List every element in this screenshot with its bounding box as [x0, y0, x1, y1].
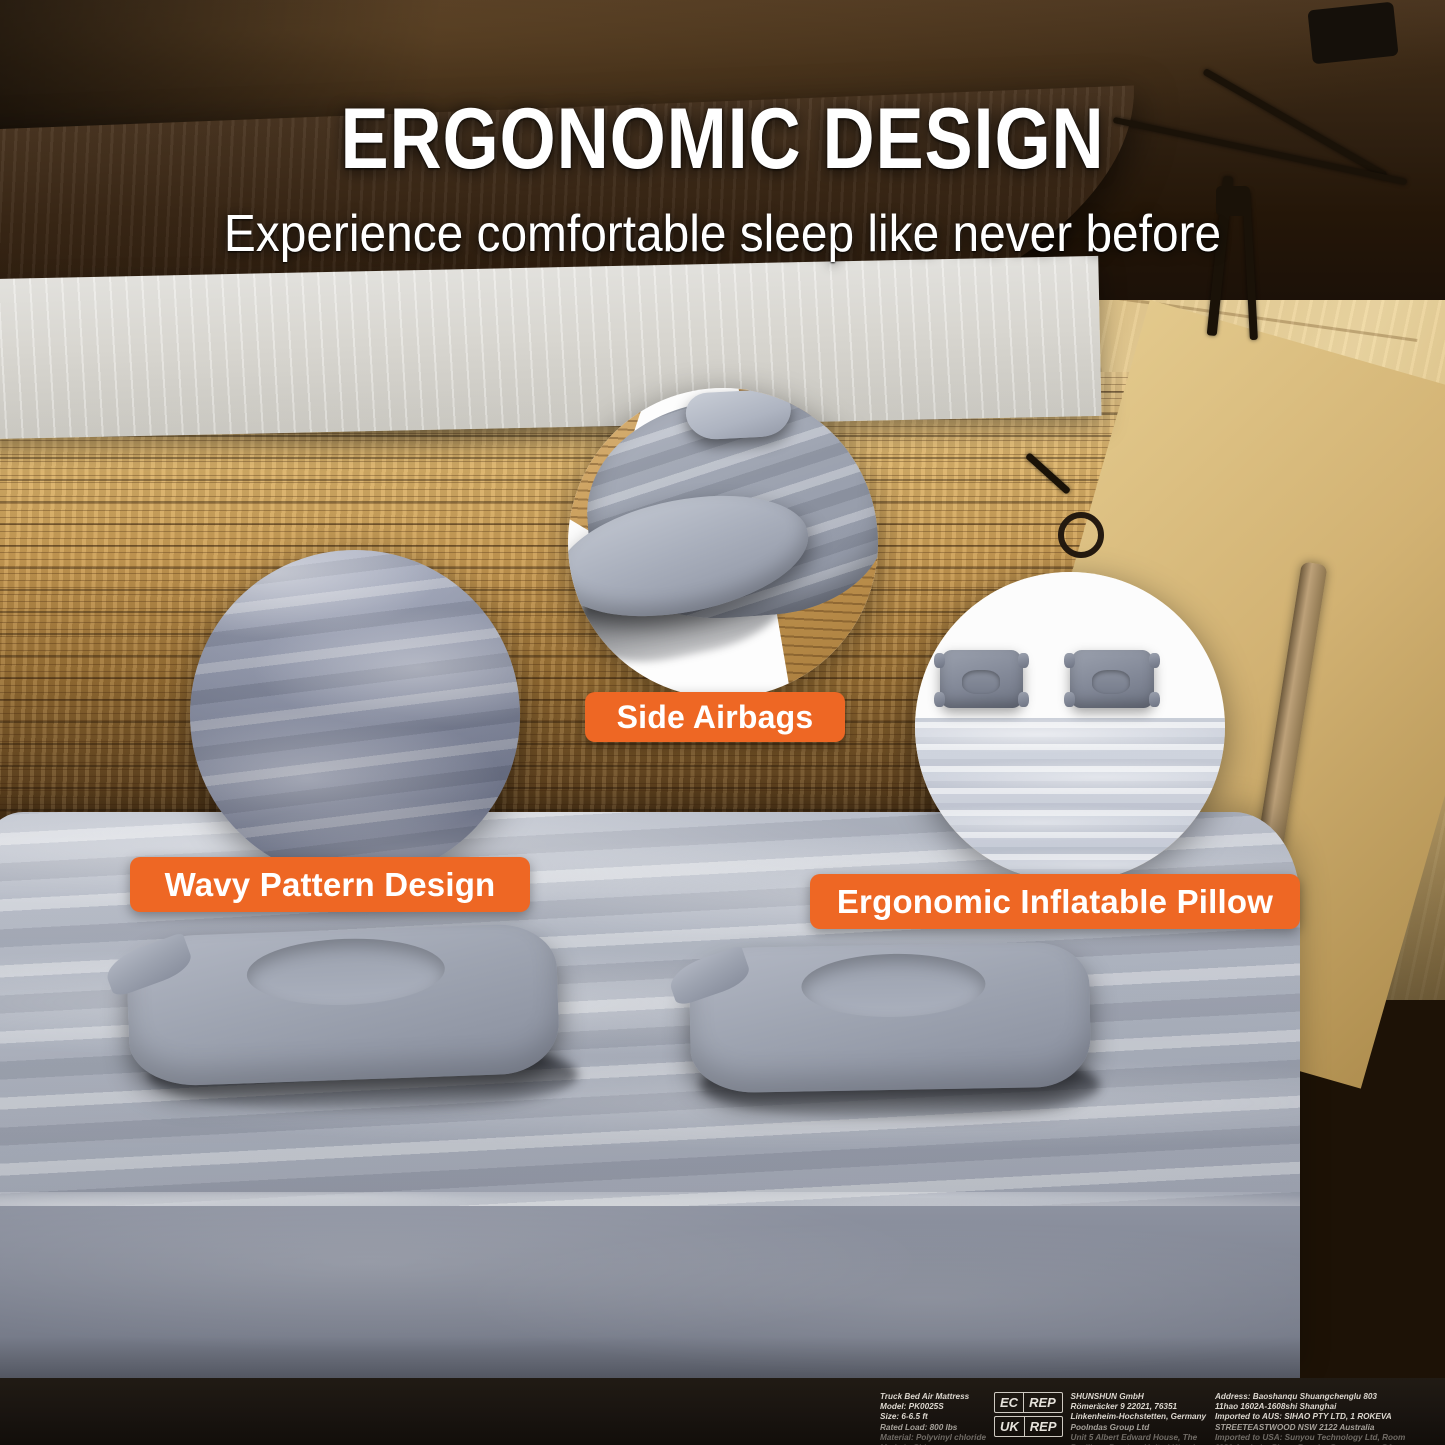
page-subtitle: Experience comfortable sleep like never … — [58, 208, 1387, 260]
pillow-head-dip — [801, 952, 986, 1019]
page-title: ERGONOMIC DESIGN — [116, 96, 1330, 182]
mfr-import-aus-1: Imported to AUS: SIHAO PTY LTD, 1 ROKEVA — [1215, 1412, 1405, 1422]
badge-ergonomic-inflatable-pillow: Ergonomic Inflatable Pillow — [810, 874, 1300, 929]
wavy-pattern-photo — [190, 550, 520, 880]
spec-material: Material: Polyvinyl chloride — [880, 1433, 986, 1443]
tent-vent-panel — [1307, 2, 1398, 65]
label-rep-marks-column: EC REP UK REP — [994, 1392, 1063, 1440]
callout-circle-wavy-pattern — [190, 550, 520, 880]
mattress-front-face — [0, 1206, 1300, 1392]
badge-label: Wavy Pattern Design — [165, 866, 496, 904]
mfr-address-line-1: Address: Baoshanqu Shuangchenglu 803 — [1215, 1392, 1405, 1402]
callout-circle-side-airbags — [568, 388, 878, 698]
tent-ring — [1058, 512, 1104, 558]
badge-label: Side Airbags — [617, 699, 814, 736]
badge-wavy-pattern-design: Wavy Pattern Design — [130, 857, 530, 912]
inflatable-pillow-right — [1070, 650, 1154, 709]
rep-mark-text: REP — [1024, 1417, 1062, 1436]
badge-label: Ergonomic Inflatable Pillow — [837, 883, 1273, 921]
side-airbags-photo — [568, 388, 878, 698]
ec-mark-text: EC — [995, 1393, 1023, 1412]
tent-inner-lining — [0, 256, 1102, 440]
ec-rep-street: Römeräcker 9 22021, 76351 — [1071, 1402, 1207, 1412]
uk-rep-street: Unit 5 Albert Edward House, The — [1071, 1433, 1207, 1443]
inflatable-pillow-left — [940, 650, 1024, 709]
bed-pillow-left — [126, 923, 561, 1088]
mfr-import-aus-2: STREETEASTWOOD NSW 2122 Australia — [1215, 1423, 1405, 1433]
ec-rep-city: Linkenheim-Hochstetten, Germany — [1071, 1412, 1207, 1422]
ergonomic-pillow-photo — [915, 572, 1225, 882]
label-manufacturer-address-column: Address: Baoshanqu Shuangchenglu 803 11h… — [1215, 1392, 1405, 1445]
product-marketing-image: ERGONOMIC DESIGN Experience comfortable … — [0, 0, 1445, 1445]
callout-circle-ergonomic-pillow — [915, 572, 1225, 882]
spec-size: Size: 6-6.5 ft — [880, 1412, 986, 1422]
ec-rep-company: SHUNSHUN GmbH — [1071, 1392, 1207, 1402]
spec-product-name: Truck Bed Air Mattress — [880, 1392, 986, 1402]
uk-mark-text: UK — [995, 1417, 1024, 1436]
label-spec-column: Truck Bed Air Mattress Model: PK0025S Si… — [880, 1392, 986, 1445]
mfr-address-line-2: 11hao 1602A-1608shi Shanghai — [1215, 1402, 1405, 1412]
rep-mark-text: REP — [1023, 1393, 1061, 1412]
spec-model: Model: PK0025S — [880, 1402, 986, 1412]
product-spec-label: Truck Bed Air Mattress Model: PK0025S Si… — [880, 1392, 1445, 1445]
pillow-head-dip — [246, 935, 446, 1008]
label-rep-address-column: SHUNSHUN GmbH Römeräcker 9 22021, 76351 … — [1071, 1392, 1207, 1445]
badge-side-airbags: Side Airbags — [585, 692, 845, 742]
mfr-import-usa-1: Imported to USA: Sunyou Technology Ltd, … — [1215, 1433, 1405, 1443]
ec-rep-mark: EC REP — [994, 1392, 1063, 1413]
bed-pillow-right — [689, 942, 1091, 1094]
uk-rep-company: Poolndas Group Ltd — [1071, 1423, 1207, 1433]
uk-rep-mark: UK REP — [994, 1416, 1063, 1437]
spec-rated-load: Rated Load: 800 lbs — [880, 1423, 986, 1433]
